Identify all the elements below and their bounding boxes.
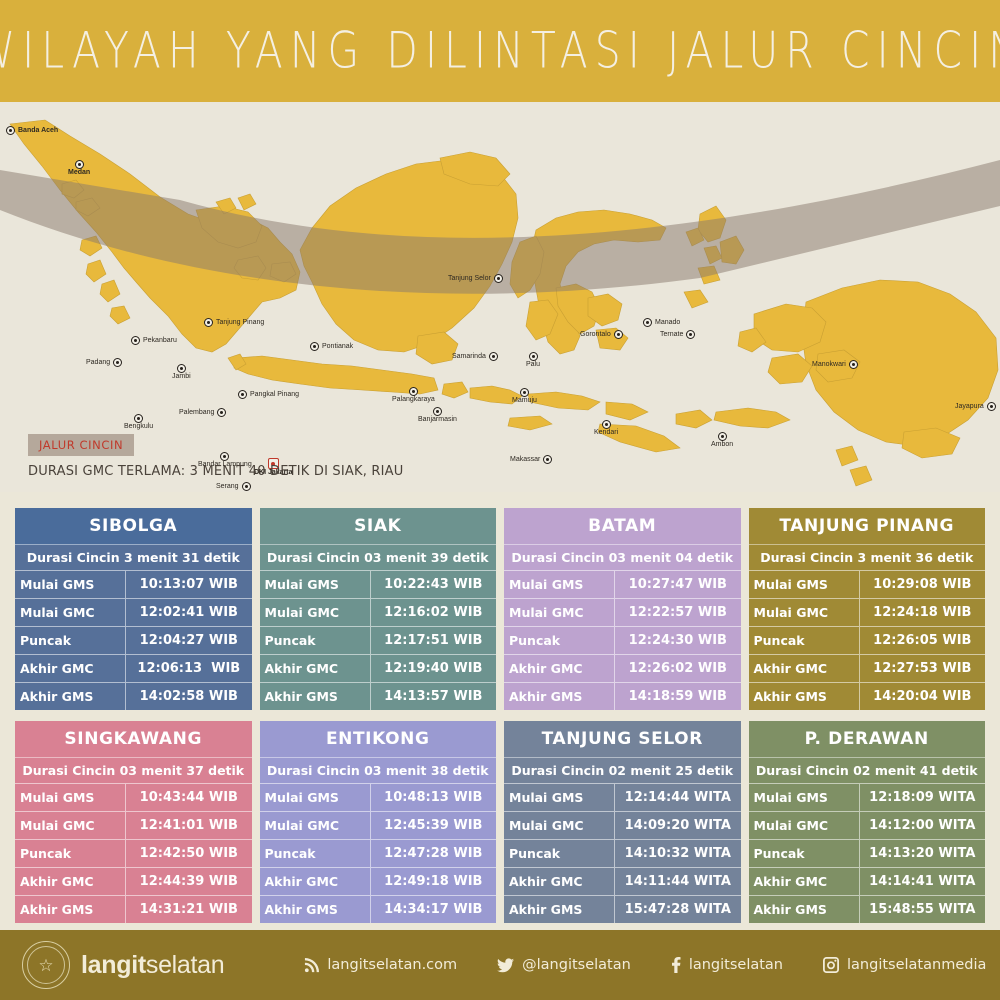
card-rows: Mulai GMS10:29:08 WIB Mulai GMC12:24:18 … bbox=[749, 571, 986, 710]
card-duration: Durasi Cincin 03 menit 37 detik bbox=[15, 758, 252, 784]
card-tanjung-selor: TANJUNG SELOR Durasi Cincin 02 menit 25 … bbox=[504, 721, 741, 923]
row-value: 12:19:40 WIB bbox=[371, 655, 496, 682]
row-label: Akhir GMC bbox=[749, 868, 860, 895]
card-city-name: SIBOLGA bbox=[15, 508, 252, 545]
map-graphic bbox=[0, 102, 1000, 492]
city-label: Samarinda bbox=[452, 353, 486, 360]
row-value: 12:49:18 WIB bbox=[371, 868, 496, 895]
city-dot-icon bbox=[310, 342, 319, 351]
table-row: Akhir GMS14:20:04 WIB bbox=[749, 683, 986, 710]
city-label: Tanjung Selor bbox=[448, 275, 491, 282]
table-row: Mulai GMC12:41:01 WIB bbox=[15, 812, 252, 840]
city-label: Palu bbox=[526, 361, 540, 368]
city-label: Medan bbox=[68, 169, 90, 176]
city-label: Manokwari bbox=[812, 361, 846, 368]
row-label: Akhir GMS bbox=[749, 896, 860, 923]
row-label: Mulai GMC bbox=[504, 812, 615, 839]
page-footer: ☆ langitselatan langitselatan.com @langi… bbox=[0, 930, 1000, 1000]
row-value: 15:47:28 WITA bbox=[615, 896, 740, 923]
table-row: Puncak12:04:27 WIB bbox=[15, 627, 252, 655]
city-dot-icon bbox=[6, 126, 15, 135]
table-row: Akhir GMC12:44:39 WIB bbox=[15, 868, 252, 896]
city-dot-icon bbox=[529, 352, 538, 361]
card-rows: Mulai GMS10:22:43 WIB Mulai GMC12:16:02 … bbox=[260, 571, 497, 710]
row-value: 12:41:01 WIB bbox=[126, 812, 251, 839]
legend-duration-note: DURASI GMC TERLAMA: 3 MENIT 40 DETIK DI … bbox=[28, 464, 403, 479]
row-label: Akhir GMC bbox=[504, 655, 615, 682]
table-row: Mulai GMS12:18:09 WITA bbox=[749, 784, 986, 812]
city-dot-icon bbox=[614, 330, 623, 339]
city-label: Palembang bbox=[179, 409, 214, 416]
card-rows: Mulai GMS10:48:13 WIB Mulai GMC12:45:39 … bbox=[260, 784, 497, 923]
row-label: Mulai GMS bbox=[504, 784, 615, 811]
card-duration: Durasi Cincin 03 menit 04 detik bbox=[504, 545, 741, 571]
card-duration: Durasi Cincin 03 menit 39 detik bbox=[260, 545, 497, 571]
row-value: 10:48:13 WIB bbox=[371, 784, 496, 811]
legend-jalur-cincin: JALUR CINCIN bbox=[28, 434, 134, 456]
city-dot-icon bbox=[543, 455, 552, 464]
page-header: WILAYAH YANG DILINTASI JALUR CINCIN bbox=[0, 0, 1000, 102]
table-row: Akhir GMC14:14:41 WITA bbox=[749, 868, 986, 896]
social-website[interactable]: langitselatan.com bbox=[304, 957, 457, 973]
brand-wordmark: langitselatan bbox=[81, 951, 224, 980]
city-marker-serang: Serang bbox=[216, 482, 251, 491]
row-value: 14:20:04 WIB bbox=[860, 683, 985, 710]
table-row: Mulai GMC14:12:00 WITA bbox=[749, 812, 986, 840]
langitselatan-seal-icon: ☆ bbox=[22, 941, 70, 989]
city-marker-gorontalo: Gorontalo bbox=[580, 330, 623, 339]
card-rows: Mulai GMS10:27:47 WIB Mulai GMC12:22:57 … bbox=[504, 571, 741, 710]
twitter-icon bbox=[497, 958, 514, 973]
table-row: Akhir GMC12:06:13 WIB bbox=[15, 655, 252, 683]
city-label: Jambi bbox=[172, 373, 191, 380]
row-value: 12:14:44 WITA bbox=[615, 784, 740, 811]
row-label: Mulai GMC bbox=[15, 812, 126, 839]
row-label: Mulai GMS bbox=[15, 784, 126, 811]
row-label: Mulai GMC bbox=[504, 599, 615, 626]
row-value: 15:48:55 WITA bbox=[860, 896, 985, 923]
city-dot-icon bbox=[131, 336, 140, 345]
row-label: Mulai GMC bbox=[749, 599, 860, 626]
row-label: Mulai GMS bbox=[749, 784, 860, 811]
table-row: Puncak12:17:51 WIB bbox=[260, 627, 497, 655]
card-rows: Mulai GMS10:43:44 WIB Mulai GMC12:41:01 … bbox=[15, 784, 252, 923]
facebook-icon bbox=[671, 957, 681, 973]
card-rows: Mulai GMS10:13:07 WIB Mulai GMC12:02:41 … bbox=[15, 571, 252, 710]
table-row: Puncak12:24:30 WIB bbox=[504, 627, 741, 655]
card-city-name: SINGKAWANG bbox=[15, 721, 252, 758]
table-row: Mulai GMC14:09:20 WITA bbox=[504, 812, 741, 840]
row-value: 12:16:02 WIB bbox=[371, 599, 496, 626]
row-value: 14:31:21 WIB bbox=[126, 896, 251, 923]
row-label: Mulai GMS bbox=[749, 571, 860, 598]
card-rows: Mulai GMS12:18:09 WITA Mulai GMC14:12:00… bbox=[749, 784, 986, 923]
row-value: 12:45:39 WIB bbox=[371, 812, 496, 839]
row-value: 12:26:05 WIB bbox=[860, 627, 985, 654]
city-label: Banda Aceh bbox=[18, 127, 58, 134]
table-row: Puncak12:47:28 WIB bbox=[260, 840, 497, 868]
city-marker-pangkal-pinang: Pangkal Pinang bbox=[238, 390, 299, 399]
table-row: Akhir GMC14:11:44 WITA bbox=[504, 868, 741, 896]
row-label: Mulai GMC bbox=[15, 599, 126, 626]
row-value: 14:13:20 WITA bbox=[860, 840, 985, 867]
city-marker-palu: Palu bbox=[526, 352, 540, 368]
city-marker-palembang: Palembang bbox=[179, 408, 226, 417]
row-value: 10:13:07 WIB bbox=[126, 571, 251, 598]
row-label: Akhir GMS bbox=[15, 683, 126, 710]
page-title: WILAYAH YANG DILINTASI JALUR CINCIN bbox=[0, 22, 1000, 80]
row-label: Mulai GMC bbox=[749, 812, 860, 839]
row-value: 14:14:41 WITA bbox=[860, 868, 985, 895]
table-row: Akhir GMS14:31:21 WIB bbox=[15, 896, 252, 923]
row-label: Mulai GMS bbox=[504, 571, 615, 598]
table-row: Akhir GMS14:02:58 WIB bbox=[15, 683, 252, 710]
card-city-name: SIAK bbox=[260, 508, 497, 545]
city-label: Mamuju bbox=[512, 397, 537, 404]
city-dot-icon bbox=[217, 408, 226, 417]
row-value: 12:24:30 WIB bbox=[615, 627, 740, 654]
row-value: 12:47:28 WIB bbox=[371, 840, 496, 867]
card-tanjung-pinang: TANJUNG PINANG Durasi Cincin 3 menit 36 … bbox=[749, 508, 986, 710]
city-dot-icon bbox=[489, 352, 498, 361]
infographic-page: WILAYAH YANG DILINTASI JALUR CINCIN bbox=[0, 0, 1000, 1000]
city-label: Makassar bbox=[510, 456, 540, 463]
row-label: Akhir GMC bbox=[749, 655, 860, 682]
social-label: langitselatanmedia bbox=[847, 957, 986, 973]
table-row: Akhir GMS14:34:17 WIB bbox=[260, 896, 497, 923]
city-dot-icon bbox=[242, 482, 251, 491]
city-marker-tanjung-pinang: Tanjung Pinang bbox=[204, 318, 264, 327]
city-marker-manado: Manado bbox=[643, 318, 680, 327]
city-dot-icon bbox=[134, 414, 143, 423]
city-marker-manokwari: Manokwari bbox=[812, 360, 858, 369]
row-value: 12:24:18 WIB bbox=[860, 599, 985, 626]
card-p-derawan: P. DERAWAN Durasi Cincin 02 menit 41 det… bbox=[749, 721, 986, 923]
row-value: 12:17:51 WIB bbox=[371, 627, 496, 654]
card-batam: BATAM Durasi Cincin 03 menit 04 detik Mu… bbox=[504, 508, 741, 710]
table-row: Mulai GMS10:29:08 WIB bbox=[749, 571, 986, 599]
row-label: Akhir GMC bbox=[15, 868, 126, 895]
city-marker-pontianak: Pontianak bbox=[310, 342, 353, 351]
city-dot-icon bbox=[718, 432, 727, 441]
card-siak: SIAK Durasi Cincin 03 menit 39 detik Mul… bbox=[260, 508, 497, 710]
city-dot-icon bbox=[113, 358, 122, 367]
rss-icon bbox=[304, 958, 319, 973]
row-value: 14:12:00 WITA bbox=[860, 812, 985, 839]
row-value: 14:11:44 WITA bbox=[615, 868, 740, 895]
row-label: Akhir GMS bbox=[504, 683, 615, 710]
city-label: Banjarmasin bbox=[418, 416, 457, 423]
social-label: @langitselatan bbox=[522, 957, 631, 973]
city-dot-icon bbox=[643, 318, 652, 327]
city-label: Ambon bbox=[711, 441, 733, 448]
city-marker-pekanbaru: Pekanbaru bbox=[131, 336, 177, 345]
social-label: langitselatan.com bbox=[327, 957, 457, 973]
city-marker-kendari: Kendari bbox=[594, 420, 618, 436]
row-value: 14:10:32 WITA bbox=[615, 840, 740, 867]
row-label: Puncak bbox=[504, 627, 615, 654]
card-city-name: ENTIKONG bbox=[260, 721, 497, 758]
city-marker-makassar: Makassar bbox=[510, 455, 552, 464]
row-value: 10:43:44 WIB bbox=[126, 784, 251, 811]
table-row: Mulai GMS10:22:43 WIB bbox=[260, 571, 497, 599]
table-row: Puncak12:26:05 WIB bbox=[749, 627, 986, 655]
table-row: Akhir GMS15:47:28 WITA bbox=[504, 896, 741, 923]
city-dot-icon bbox=[987, 402, 996, 411]
card-duration: Durasi Cincin 3 menit 36 detik bbox=[749, 545, 986, 571]
row-value: 10:29:08 WIB bbox=[860, 571, 985, 598]
city-timing-cards: SIBOLGA Durasi Cincin 3 menit 31 detik M… bbox=[15, 508, 985, 923]
city-label: Ternate bbox=[660, 331, 683, 338]
row-value: 14:02:58 WIB bbox=[126, 683, 251, 710]
row-label: Mulai GMC bbox=[260, 599, 371, 626]
card-entikong: ENTIKONG Durasi Cincin 03 menit 38 detik… bbox=[260, 721, 497, 923]
row-label: Mulai GMS bbox=[260, 784, 371, 811]
row-value: 12:26:02 WIB bbox=[615, 655, 740, 682]
row-label: Akhir GMS bbox=[504, 896, 615, 923]
row-label: Puncak bbox=[504, 840, 615, 867]
table-row: Akhir GMC12:49:18 WIB bbox=[260, 868, 497, 896]
city-dot-icon bbox=[494, 274, 503, 283]
table-row: Akhir GMS14:18:59 WIB bbox=[504, 683, 741, 710]
city-label: Tanjung Pinang bbox=[216, 319, 264, 326]
row-label: Mulai GMS bbox=[15, 571, 126, 598]
city-dot-icon bbox=[602, 420, 611, 429]
city-dot-icon bbox=[238, 390, 247, 399]
row-value: 14:09:20 WITA bbox=[615, 812, 740, 839]
city-marker-padang: Padang bbox=[86, 358, 122, 367]
table-row: Akhir GMC12:19:40 WIB bbox=[260, 655, 497, 683]
city-marker-banjarmasin: Banjarmasin bbox=[418, 407, 457, 423]
city-label: Pontianak bbox=[322, 343, 353, 350]
city-dot-icon bbox=[433, 407, 442, 416]
city-marker-banda-aceh: Banda Aceh bbox=[6, 126, 58, 135]
card-city-name: TANJUNG SELOR bbox=[504, 721, 741, 758]
city-label: Palangkaraya bbox=[392, 396, 435, 403]
row-value: 12:04:27 WIB bbox=[126, 627, 251, 654]
card-city-name: TANJUNG PINANG bbox=[749, 508, 986, 545]
card-duration: Durasi Cincin 02 menit 25 detik bbox=[504, 758, 741, 784]
row-label: Akhir GMC bbox=[504, 868, 615, 895]
city-marker-tanjung-selor: Tanjung Selor bbox=[448, 274, 503, 283]
row-value: 10:27:47 WIB bbox=[615, 571, 740, 598]
city-dot-icon bbox=[686, 330, 695, 339]
city-marker-medan: Medan bbox=[68, 160, 90, 176]
table-row: Mulai GMS12:14:44 WITA bbox=[504, 784, 741, 812]
city-marker-bengkulu: Bengkulu bbox=[124, 414, 153, 430]
social-links: langitselatan.com @langitselatan langits… bbox=[304, 957, 986, 973]
row-label: Puncak bbox=[15, 840, 126, 867]
table-row: Akhir GMS14:13:57 WIB bbox=[260, 683, 497, 710]
row-label: Mulai GMC bbox=[260, 812, 371, 839]
row-value: 12:18:09 WITA bbox=[860, 784, 985, 811]
table-row: Mulai GMC12:02:41 WIB bbox=[15, 599, 252, 627]
city-dot-icon bbox=[204, 318, 213, 327]
table-row: Mulai GMC12:16:02 WIB bbox=[260, 599, 497, 627]
row-label: Akhir GMS bbox=[15, 896, 126, 923]
table-row: Mulai GMS10:48:13 WIB bbox=[260, 784, 497, 812]
table-row: Puncak14:10:32 WITA bbox=[504, 840, 741, 868]
table-row: Mulai GMC12:22:57 WIB bbox=[504, 599, 741, 627]
city-label: Bengkulu bbox=[124, 423, 153, 430]
social-label: langitselatan bbox=[689, 957, 783, 973]
table-row: Puncak12:42:50 WIB bbox=[15, 840, 252, 868]
row-label: Akhir GMC bbox=[260, 868, 371, 895]
city-marker-samarinda: Samarinda bbox=[452, 352, 498, 361]
row-value: 12:42:50 WIB bbox=[126, 840, 251, 867]
table-row: Akhir GMC12:27:53 WIB bbox=[749, 655, 986, 683]
city-marker-palangkaraya: Palangkaraya bbox=[392, 387, 435, 403]
row-value: 12:27:53 WIB bbox=[860, 655, 985, 682]
card-city-name: P. DERAWAN bbox=[749, 721, 986, 758]
row-value: 12:06:13 WIB bbox=[126, 655, 251, 682]
city-dot-icon bbox=[220, 452, 229, 461]
table-row: Puncak14:13:20 WITA bbox=[749, 840, 986, 868]
card-duration: Durasi Cincin 02 menit 41 detik bbox=[749, 758, 986, 784]
row-label: Puncak bbox=[260, 627, 371, 654]
card-duration: Durasi Cincin 03 menit 38 detik bbox=[260, 758, 497, 784]
city-label: Serang bbox=[216, 483, 239, 490]
table-row: Mulai GMC12:24:18 WIB bbox=[749, 599, 986, 627]
city-dot-icon bbox=[409, 387, 418, 396]
instagram-icon bbox=[823, 957, 839, 973]
city-label: Manado bbox=[655, 319, 680, 326]
row-value: 12:02:41 WIB bbox=[126, 599, 251, 626]
city-dot-icon bbox=[177, 364, 186, 373]
city-marker-jayapura: Jayapura bbox=[955, 402, 996, 411]
card-sibolga: SIBOLGA Durasi Cincin 3 menit 31 detik M… bbox=[15, 508, 252, 710]
city-marker-ambon: Ambon bbox=[711, 432, 733, 448]
city-marker-ternate: Ternate bbox=[660, 330, 695, 339]
city-label: Kendari bbox=[594, 429, 618, 436]
social-twitter[interactable]: @langitselatan bbox=[497, 957, 631, 973]
row-label: Mulai GMS bbox=[260, 571, 371, 598]
brand-light: selatan bbox=[146, 951, 225, 979]
city-label: Pekanbaru bbox=[143, 337, 177, 344]
city-dot-icon bbox=[849, 360, 858, 369]
row-value: 10:22:43 WIB bbox=[371, 571, 496, 598]
table-row: Akhir GMC12:26:02 WIB bbox=[504, 655, 741, 683]
card-duration: Durasi Cincin 3 menit 31 detik bbox=[15, 545, 252, 571]
row-value: 14:13:57 WIB bbox=[371, 683, 496, 710]
card-rows: Mulai GMS12:14:44 WITA Mulai GMC14:09:20… bbox=[504, 784, 741, 923]
city-dot-icon bbox=[75, 160, 84, 169]
row-label: Akhir GMS bbox=[260, 896, 371, 923]
row-label: Akhir GMC bbox=[260, 655, 371, 682]
indonesia-map: Banda Aceh Medan Tanjung Pinang Pekanbar… bbox=[0, 102, 1000, 492]
city-label: Gorontalo bbox=[580, 331, 611, 338]
city-dot-icon bbox=[520, 388, 529, 397]
row-label: Puncak bbox=[749, 840, 860, 867]
card-city-name: BATAM bbox=[504, 508, 741, 545]
city-label: Jayapura bbox=[955, 403, 984, 410]
row-value: 12:44:39 WIB bbox=[126, 868, 251, 895]
card-singkawang: SINGKAWANG Durasi Cincin 03 menit 37 det… bbox=[15, 721, 252, 923]
row-value: 14:18:59 WIB bbox=[615, 683, 740, 710]
row-label: Akhir GMS bbox=[260, 683, 371, 710]
brand-block: ☆ langitselatan bbox=[22, 941, 224, 989]
table-row: Mulai GMS10:27:47 WIB bbox=[504, 571, 741, 599]
city-label: Pangkal Pinang bbox=[250, 391, 299, 398]
brand-bold: langit bbox=[81, 951, 146, 979]
table-row: Mulai GMS10:13:07 WIB bbox=[15, 571, 252, 599]
city-marker-mamuju: Mamuju bbox=[512, 388, 537, 404]
social-facebook[interactable]: langitselatan bbox=[671, 957, 783, 973]
row-label: Puncak bbox=[749, 627, 860, 654]
seal-glyph-icon: ☆ bbox=[38, 957, 53, 974]
table-row: Mulai GMC12:45:39 WIB bbox=[260, 812, 497, 840]
row-label: Akhir GMC bbox=[15, 655, 126, 682]
table-row: Akhir GMS15:48:55 WITA bbox=[749, 896, 986, 923]
row-label: Puncak bbox=[15, 627, 126, 654]
row-value: 14:34:17 WIB bbox=[371, 896, 496, 923]
city-marker-jambi: Jambi bbox=[172, 364, 191, 380]
row-value: 12:22:57 WIB bbox=[615, 599, 740, 626]
city-label: Padang bbox=[86, 359, 110, 366]
social-instagram[interactable]: langitselatanmedia bbox=[823, 957, 986, 973]
table-row: Mulai GMS10:43:44 WIB bbox=[15, 784, 252, 812]
row-label: Akhir GMS bbox=[749, 683, 860, 710]
row-label: Puncak bbox=[260, 840, 371, 867]
